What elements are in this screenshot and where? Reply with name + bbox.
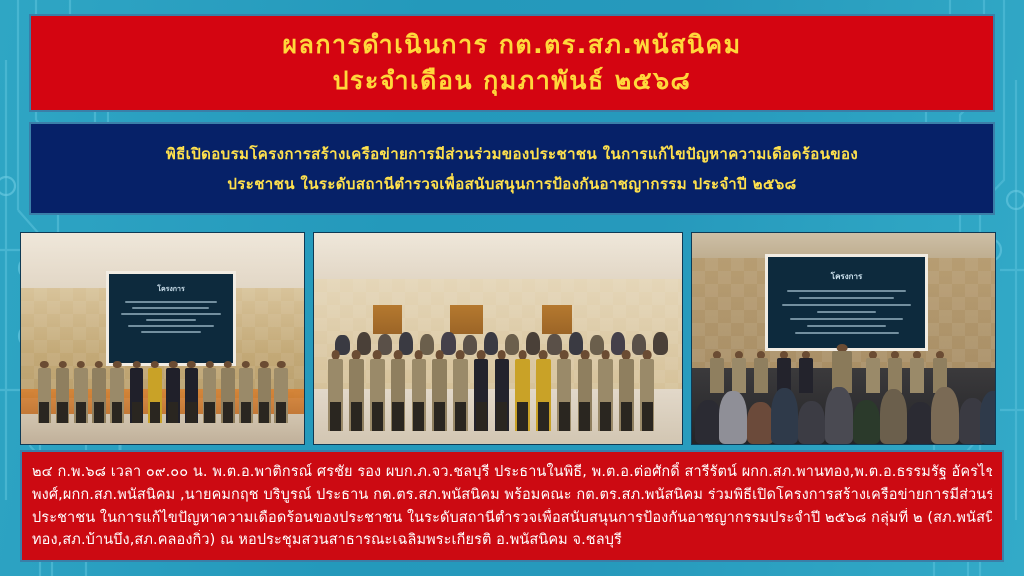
person [495,350,510,431]
photo-3-projection-screen: โครงการ [765,254,929,351]
person [598,350,613,431]
person [432,350,447,431]
person [258,361,272,423]
person [557,350,572,431]
person [38,361,52,423]
caption-line-1: ๒๔ ก.พ.๖๘ เวลา ๐๙.๐๐ น. พ.ต.อ.พาติกรณ์ ศ… [32,462,992,483]
person [185,361,199,423]
photo-1: โครงการ [20,232,305,445]
person [515,350,530,431]
person [221,361,235,423]
title-line-2: ประจำเดือน กุมภาพันธ์ ๒๕๖๘ [333,64,692,98]
person [166,361,180,423]
photo-2-front-row [325,347,671,431]
person [239,361,253,423]
subtitle-banner: พิธีเปิดอบรมโครงการสร้างเครือข่ายการมีส่… [29,122,995,215]
person [110,361,124,423]
person [203,361,217,423]
person [391,350,406,431]
photo-1-projection-screen: โครงการ [106,271,236,366]
person [640,350,655,431]
person [578,350,593,431]
caption-line-2: พงศ์,ผกก.สภ.พนัสนิคม ,นายคมกฤช บริบูรณ์ … [32,485,992,506]
person [148,361,162,423]
person [619,350,634,431]
person [74,361,88,423]
subtitle-line-2: ประชาชน ในระดับสถานีตำรวจเพื่อสนับสนุนกา… [227,172,796,196]
person [349,350,364,431]
photo-1-slide-title: โครงการ [109,284,233,295]
photo-1-officer-row [32,360,292,423]
caption-line-4: ทอง,สภ.บ้านบึง,สภ.คลองกิ่ว) ณ หอประชุมสว… [32,530,992,551]
photo-2 [313,232,683,445]
poster-root: ผลการดำเนินการ กต.ตร.สภ.พนัสนิคม ประจำเด… [0,0,1024,576]
person [453,350,468,431]
photo-3-audience-backs [692,372,995,444]
person [274,361,288,423]
person [56,361,70,423]
photo-3-slide-title: โครงการ [768,270,926,283]
person [370,350,385,431]
caption-banner: ๒๔ ก.พ.๖๘ เวลา ๐๙.๐๐ น. พ.ต.อ.พาติกรณ์ ศ… [20,450,1004,562]
caption-line-3: ประชาชน ในการแก้ไขปัญหาความเดือดร้อนของป… [32,508,992,529]
person [474,350,489,431]
person [536,350,551,431]
person [130,361,144,423]
person [92,361,106,423]
photo-2-ceiling [314,233,682,279]
person [412,350,427,431]
photo-gallery: โครงการ [20,232,1004,445]
person [328,350,343,431]
title-line-1: ผลการดำเนินการ กต.ตร.สภ.พนัสนิคม [282,28,741,62]
subtitle-line-1: พิธีเปิดอบรมโครงการสร้างเครือข่ายการมีส่… [166,142,858,166]
title-banner: ผลการดำเนินการ กต.ตร.สภ.พนัสนิคม ประจำเด… [29,14,995,112]
photo-3: โครงการ [691,232,996,445]
